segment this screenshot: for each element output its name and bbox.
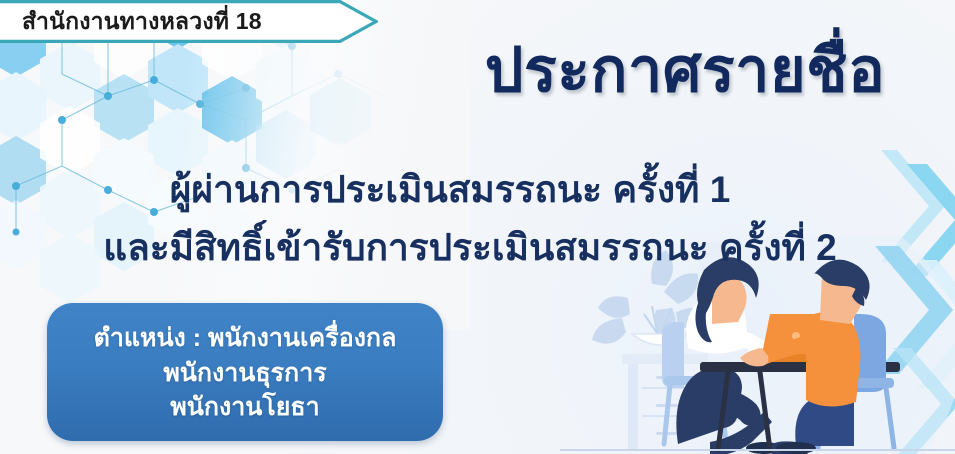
- position-line-2: พนักงานธุรการ: [163, 356, 326, 391]
- position-line-3: พนักงานโยธา: [170, 390, 319, 425]
- hexagon-pattern-decoration: [0, 0, 470, 330]
- page-title: ประกาศรายชื่อ: [420, 38, 950, 102]
- office-name-label: สำนักงานทางหลวงที่ 18: [0, 4, 262, 40]
- office-name-tag: สำนักงานทางหลวงที่ 18: [0, 0, 378, 43]
- position-line-1: ตำแหน่ง : พนักงานเครื่องกล: [94, 321, 397, 356]
- subtitle-line-1: ผู้ผ่านการประเมินสมรรถนะ ครั้งที่ 1: [0, 168, 900, 212]
- subtitle-line-2: และมีสิทธิ์เข้ารับการประเมินสมรรถนะ ครั้…: [0, 226, 940, 270]
- announcement-banner: สำนักงานทางหลวงที่ 18 ประกาศรายชื่อ ผู้ผ…: [0, 0, 955, 454]
- position-list-box: ตำแหน่ง : พนักงานเครื่องกล พนักงานธุรการ…: [47, 303, 443, 441]
